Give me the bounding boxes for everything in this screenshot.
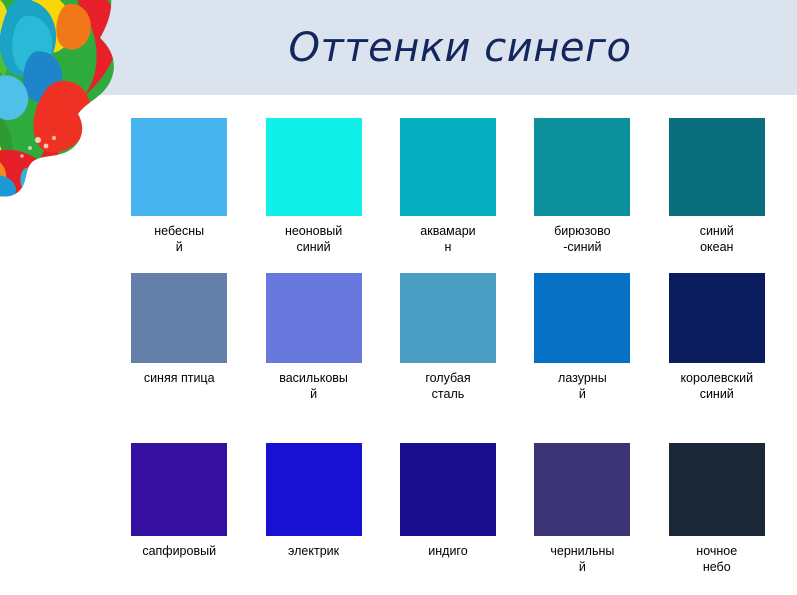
color-chip[interactable] — [400, 118, 496, 216]
color-chip[interactable] — [534, 273, 630, 363]
swatch-cell[interactable]: бирюзово -синий — [515, 118, 649, 273]
swatch-cell[interactable]: индиго — [381, 443, 515, 593]
page-title: Оттенки синего — [150, 0, 770, 95]
swatch-cell[interactable]: синяя птица — [112, 273, 246, 443]
swatch-cell[interactable]: неоновый синий — [246, 118, 380, 273]
swatch-cell[interactable]: королевский синий — [650, 273, 784, 443]
swatch-cell[interactable]: чернильны й — [515, 443, 649, 593]
swatch-label: королевский синий — [667, 370, 767, 402]
swatch-label: аквамари н — [405, 223, 491, 255]
swatch-cell[interactable]: небесны й — [112, 118, 246, 273]
color-chip[interactable] — [534, 443, 630, 536]
color-chip[interactable] — [534, 118, 630, 216]
swatch-cell[interactable]: голубая сталь — [381, 273, 515, 443]
swatch-row-2: синяя птица васильковы й голубая сталь л… — [112, 273, 784, 443]
swatch-cell[interactable]: аквамари н — [381, 118, 515, 273]
slide-canvas: Оттенки синего — [0, 0, 797, 595]
swatch-label: бирюзово -синий — [532, 223, 632, 255]
swatch-label: небесны й — [129, 223, 229, 255]
color-chip[interactable] — [131, 273, 227, 363]
swatch-cell[interactable]: сапфировый — [112, 443, 246, 593]
swatch-label: чернильны й — [539, 543, 625, 575]
color-chip[interactable] — [266, 273, 362, 363]
swatch-label: индиго — [398, 543, 498, 559]
color-chip[interactable] — [266, 118, 362, 216]
swatch-cell[interactable]: электрик — [246, 443, 380, 593]
swatch-row-1: небесны й неоновый синий аквамари н бирю… — [112, 118, 784, 273]
color-chip[interactable] — [400, 443, 496, 536]
swatch-cell[interactable]: лазурны й — [515, 273, 649, 443]
color-chip[interactable] — [131, 443, 227, 536]
color-swatch-grid: небесны й неоновый синий аквамари н бирю… — [112, 118, 784, 593]
swatch-label: голубая сталь — [405, 370, 491, 402]
swatch-cell[interactable]: ночное небо — [650, 443, 784, 593]
swatch-row-3: сапфировый электрик индиго чернильны й н… — [112, 443, 784, 593]
swatch-label: электрик — [264, 543, 364, 559]
swatch-label: сапфировый — [129, 543, 229, 559]
swatch-label: неоновый синий — [264, 223, 364, 255]
swatch-label: васильковы й — [264, 370, 364, 402]
color-chip[interactable] — [131, 118, 227, 216]
color-chip[interactable] — [266, 443, 362, 536]
color-chip[interactable] — [669, 273, 765, 363]
swatch-label: лазурны й — [539, 370, 625, 402]
swatch-cell[interactable]: синий океан — [650, 118, 784, 273]
swatch-label: синяя птица — [129, 370, 229, 386]
swatch-cell[interactable]: васильковы й — [246, 273, 380, 443]
swatch-label: синий океан — [674, 223, 760, 255]
swatch-label: ночное небо — [674, 543, 760, 575]
color-chip[interactable] — [669, 118, 765, 216]
color-chip[interactable] — [400, 273, 496, 363]
color-chip[interactable] — [669, 443, 765, 536]
